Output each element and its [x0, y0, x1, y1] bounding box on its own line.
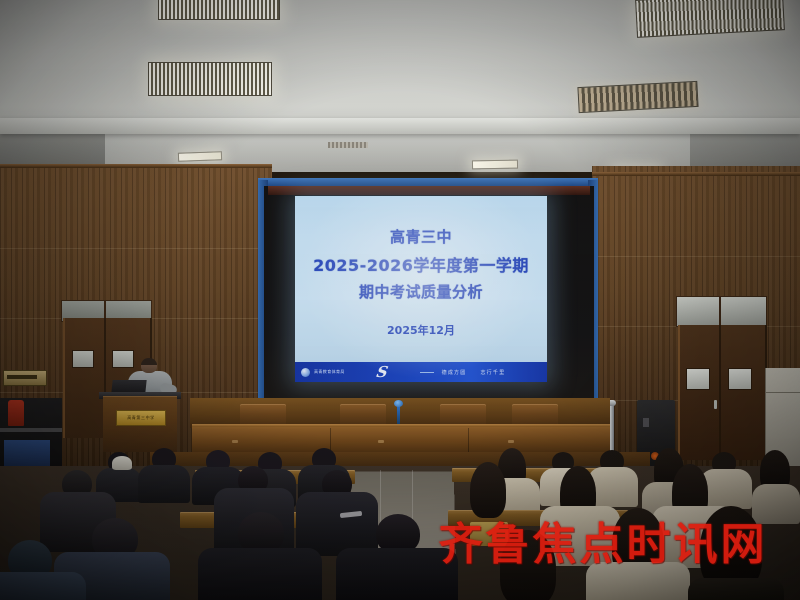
slide-banner-logo-mark: S: [375, 363, 388, 381]
wall-top-trim-right: [592, 172, 800, 176]
head-table-chair: [340, 404, 386, 426]
transom-window-right: [676, 296, 767, 327]
banner-divider-icon: [420, 372, 434, 373]
head-table: [192, 424, 610, 454]
ceiling-drop-edge: [0, 118, 800, 134]
wall-panel-seam: [0, 248, 272, 249]
education-bureau-logo-icon: [301, 368, 310, 377]
storage-crate: [4, 440, 50, 468]
ceiling-light-strip: [178, 151, 222, 162]
presenter-head: [141, 358, 157, 373]
head-table-edge: [192, 424, 610, 427]
audience-torso: [198, 548, 322, 600]
head-table-chair: [440, 404, 486, 426]
audience-torso: [0, 572, 86, 600]
fire-extinguisher-icon: [8, 400, 24, 426]
slide-line-term: 2025-2026学年度第一学期: [313, 252, 529, 276]
table-hardware-icon: [508, 440, 514, 443]
audience-torso: [138, 465, 190, 503]
ceiling-light-panel: [158, 0, 280, 20]
av-rack-shelf: [0, 428, 62, 432]
door-window-left-a: [72, 350, 94, 368]
slide-footer-banner: 高青教育体育局 S 德成方圆 志行千里: [295, 362, 547, 382]
microphone-stand: [397, 404, 400, 424]
table-hardware-icon: [232, 440, 238, 443]
door-right[interactable]: [678, 325, 767, 460]
slide-banner-org: 高青教育体育局: [314, 369, 345, 375]
transom-mullion-left: [104, 300, 106, 320]
microphone-icon: [394, 400, 403, 407]
door-window-right-b: [728, 368, 752, 390]
door-right-mullion: [719, 325, 721, 460]
audience-torso: [296, 492, 378, 556]
ceiling-light-panel: [148, 62, 272, 96]
door-window-right-a: [686, 368, 710, 390]
screen-valance: [268, 186, 590, 195]
ceiling-vent: [328, 142, 368, 148]
podium-nameplate: 高青第三中学: [116, 410, 166, 426]
door-handle-icon[interactable]: [714, 400, 717, 409]
table-hardware-icon: [378, 440, 384, 443]
head-table-seam: [468, 428, 469, 454]
audience-torso: [688, 578, 784, 600]
projection-screen: 高青三中 2025-2026学年度第一学期 期中考试质量分析 2025年12月 …: [295, 196, 547, 382]
transom-mullion-right: [719, 296, 721, 325]
slide-line-school: 高青三中: [390, 226, 452, 247]
wall-sign-bar-icon: [7, 375, 37, 379]
slide-banner-motto-right: 志行千里: [480, 369, 505, 376]
audience-head-with-cap: [112, 456, 132, 470]
watermark: 齐鲁焦点时讯网: [418, 512, 788, 568]
door-window-left-b: [112, 350, 134, 368]
head-table-chair: [512, 404, 558, 426]
wall-top-trim-left: [0, 164, 272, 168]
slide-date: 2025年12月: [295, 322, 547, 338]
conference-hall-photo: 高青三中 2025-2026学年度第一学期 期中考试质量分析 2025年12月 …: [0, 0, 800, 600]
slide-line-topic: 期中考试质量分析: [359, 281, 483, 302]
wall-panel-seam: [592, 256, 800, 257]
head-table-chair: [240, 404, 286, 426]
slide-banner-motto-left: 德成方圆: [442, 369, 467, 376]
speaker-badge-icon: [643, 418, 649, 427]
podium-nameplate-text: 高青第三中学: [127, 415, 155, 421]
cabinet-seam: [765, 392, 800, 393]
ceiling-light-strip: [472, 160, 518, 170]
